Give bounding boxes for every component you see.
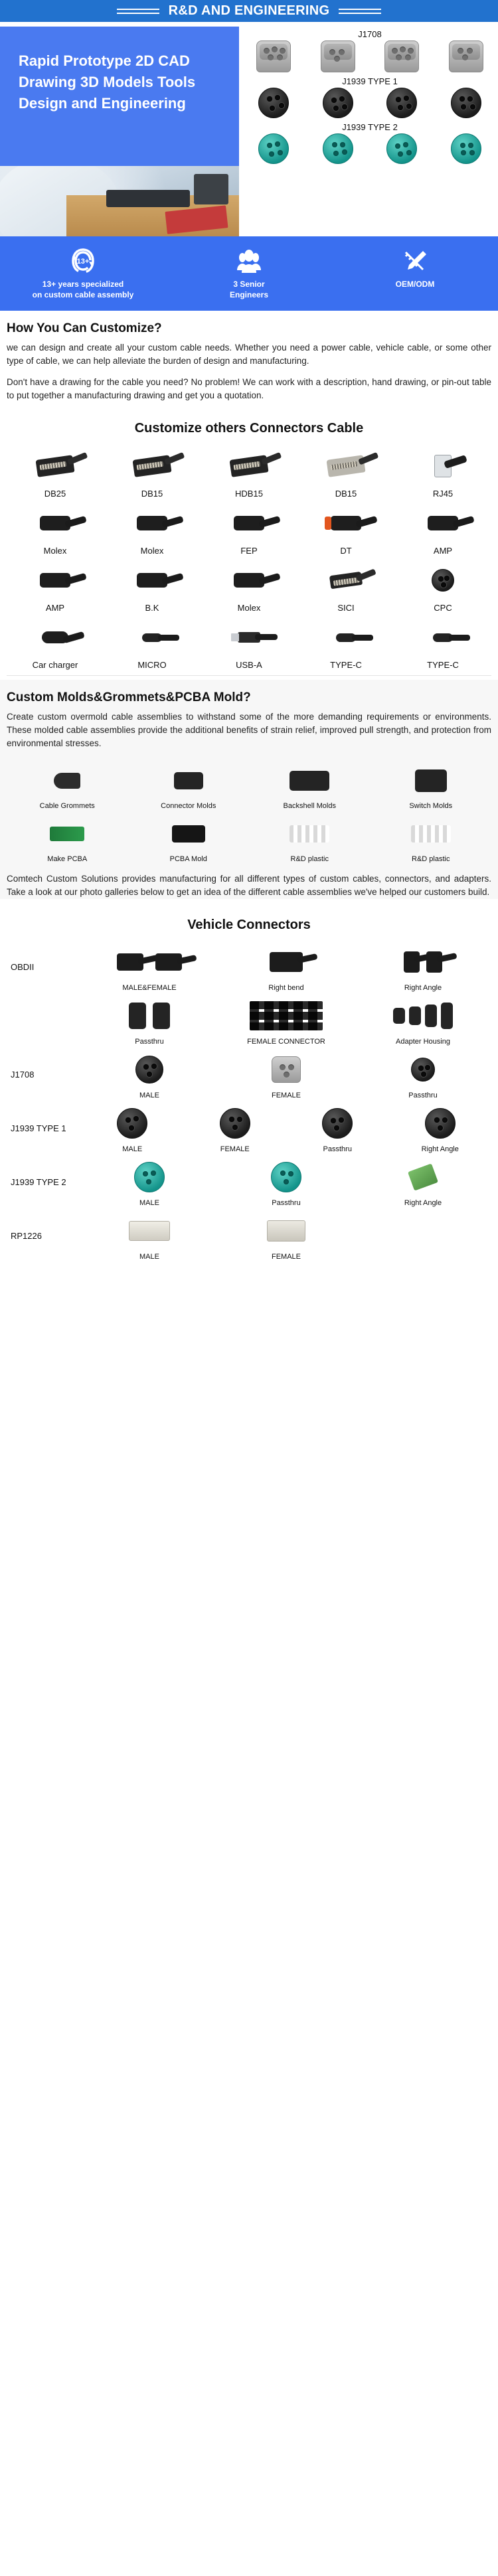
- customize-paragraph-2: Don't have a drawing for the cable you n…: [7, 376, 491, 402]
- stat-oem-odm: OEM/ODM: [332, 246, 498, 300]
- vehicle-connectors-section: Vehicle Connectors OBDII MALE&FEMALE Rig…: [0, 907, 498, 1262]
- micro-usb-icon: [105, 618, 199, 657]
- connector-cell[interactable]: DB15: [104, 443, 201, 500]
- dsub-connector-icon: [105, 447, 199, 485]
- vehicle-row-items: MALE Passthru Right Angle: [81, 1157, 491, 1207]
- molex-connector-icon: [8, 504, 102, 542]
- mold-cell[interactable]: Switch Molds: [371, 758, 492, 811]
- vehicle-item-caption: MALE: [81, 1143, 184, 1153]
- connector-cell[interactable]: RJ45: [394, 443, 491, 500]
- engineers-group-icon: [166, 246, 332, 276]
- vehicle-item-caption: MALE: [81, 1251, 218, 1261]
- rd-engineering-banner: R&D AND ENGINEERING: [0, 0, 498, 22]
- connector-label: Molex: [202, 600, 296, 613]
- gray-round-connector-icon: [384, 40, 419, 72]
- hero-right-column: J1708 J1939 TYPE 1 J1939 TYPE: [239, 27, 498, 236]
- vehicle-item-caption: FEMALE: [218, 1251, 355, 1261]
- vehicle-item[interactable]: Passthru: [218, 1157, 355, 1207]
- section-divider: [7, 675, 491, 676]
- hero-group-row: [242, 88, 498, 118]
- connector-cell[interactable]: AMP: [7, 557, 104, 614]
- dsub-connector-icon: [8, 447, 102, 485]
- obd-right-angle-icon: [355, 942, 491, 982]
- vehicle-item[interactable]: MALE: [81, 1211, 218, 1261]
- hero-group-title: J1939 TYPE 2: [242, 120, 498, 133]
- vehicle-item-caption: Passthru: [355, 1089, 491, 1099]
- molds-paragraph: Create custom overmold cable assemblies …: [7, 710, 491, 750]
- vehicle-item-caption: Right Angle: [355, 1197, 491, 1207]
- section-heading-customize: How You Can Customize?: [7, 311, 491, 341]
- black-round-connector-icon: [286, 1103, 389, 1143]
- banner-rule-left-icon: [117, 9, 159, 14]
- hero-group-j1939-type1: J1939 TYPE 1: [242, 74, 498, 118]
- connector-cell[interactable]: Car charger: [7, 614, 104, 671]
- vehicle-item-caption: FEMALE: [218, 1089, 355, 1099]
- vehicle-item[interactable]: Passthru: [81, 996, 218, 1046]
- connector-cell[interactable]: Molex: [201, 557, 297, 614]
- dsub-gray-connector-icon: [299, 447, 393, 485]
- gray-round-connector-icon: [256, 40, 291, 72]
- connector-cell[interactable]: SICI: [297, 557, 394, 614]
- j1708-female-icon: [218, 1050, 355, 1089]
- molds-grid: Cable Grommets Connector Molds Backshell…: [7, 758, 491, 864]
- amp-connector-icon: [8, 561, 102, 600]
- connector-label: CPC: [396, 600, 490, 613]
- vehicle-item-caption: Passthru: [286, 1143, 389, 1153]
- usb-a-icon: [202, 618, 296, 657]
- connector-label: SICI: [299, 600, 393, 613]
- vehicle-item[interactable]: FEMALE: [218, 1211, 355, 1261]
- rp1226-female-icon: [218, 1211, 355, 1251]
- teal-round-connector-icon: [218, 1157, 355, 1197]
- hero-left-column: Rapid Prototype 2D CAD Drawing 3D Models…: [0, 27, 239, 236]
- molex-connector-icon: [202, 561, 296, 600]
- vehicle-row-items: Passthru FEMALE CONNECTOR Adapter Housin…: [81, 996, 491, 1046]
- vehicle-item-caption: Adapter Housing: [355, 1036, 491, 1046]
- vehicle-item-spacer: [355, 1211, 491, 1261]
- connector-cell[interactable]: DB25: [7, 443, 104, 500]
- mold-label: Cable Grommets: [8, 799, 127, 810]
- obd-passthru-icon: [81, 996, 218, 1036]
- mold-label: Backshell Molds: [250, 799, 369, 810]
- stat-label: 13+ years specialized on custom cable as…: [0, 279, 166, 300]
- rd-plastic-parts-icon: [372, 815, 491, 852]
- vehicle-row-rp1226: RP1226 MALE FEMALE: [7, 1208, 491, 1262]
- j1708-passthru-icon: [355, 1050, 491, 1089]
- connector-grid: DB25 DB15 HDB15 DB15 RJ45 Molex Molex FE…: [7, 443, 491, 671]
- mold-label: Connector Molds: [129, 799, 248, 810]
- vehicle-item[interactable]: Right Angle: [355, 942, 491, 992]
- connector-cell[interactable]: TYPE-C: [297, 614, 394, 671]
- vehicle-row-label: RP1226: [7, 1231, 81, 1241]
- teal-round-connector-icon: [81, 1157, 218, 1197]
- vehicle-row-items: MALE FEMALE Passthru: [81, 1050, 491, 1099]
- connector-cell[interactable]: Molex: [104, 500, 201, 557]
- vehicle-row-items: MALE&FEMALE Right bend Right Angle: [81, 942, 491, 992]
- stat-years-specialized: 13+ 13+ years specialized on custom cabl…: [0, 246, 166, 300]
- section-title-vehicle-connectors: Vehicle Connectors: [7, 907, 491, 939]
- mold-cell[interactable]: R&D plastic: [249, 811, 371, 864]
- vehicle-item-caption: MALE&FEMALE: [81, 982, 218, 992]
- vehicle-row-j1939-type1: J1939 TYPE 1 MALE FEMALE Passthru Right …: [7, 1101, 491, 1155]
- mold-cell[interactable]: PCBA Mold: [128, 811, 250, 864]
- connector-label: FEP: [202, 542, 296, 556]
- stat-label: OEM/ODM: [332, 279, 498, 289]
- vehicle-item-caption: MALE: [81, 1197, 218, 1207]
- hero-group-row: [242, 40, 498, 72]
- vehicle-item[interactable]: Passthru: [286, 1103, 389, 1153]
- connector-label: Car charger: [8, 657, 102, 670]
- vehicle-item-caption: Right Angle: [389, 1143, 492, 1153]
- rd-plastic-parts-icon: [250, 815, 369, 852]
- connector-label: DB15: [299, 485, 393, 499]
- obd-right-bend-icon: [218, 942, 355, 982]
- connector-label: HDB15: [202, 485, 296, 499]
- mold-cell[interactable]: Connector Molds: [128, 758, 250, 811]
- recycle-13plus-icon: 13+: [0, 246, 166, 276]
- section-title-other-connectors: Customize others Connectors Cable: [7, 410, 491, 443]
- svg-text:13+: 13+: [77, 258, 90, 266]
- vehicle-item-caption: MALE: [81, 1089, 218, 1099]
- vehicle-item-caption: Right bend: [218, 982, 355, 992]
- car-charger-icon: [8, 618, 102, 657]
- obd-male-female-icon: [81, 942, 218, 982]
- connector-label: B.K: [105, 600, 199, 613]
- mold-label: Switch Molds: [372, 799, 491, 810]
- j1708-male-icon: [81, 1050, 218, 1089]
- black-round-connector-icon: [386, 88, 417, 118]
- vehicle-item[interactable]: MALE: [81, 1050, 218, 1099]
- keyboard: [106, 190, 190, 207]
- how-you-can-customize-section: How You Can Customize? we can design and…: [0, 311, 498, 402]
- vehicle-item-caption: FEMALE CONNECTOR: [218, 1036, 355, 1046]
- hero-group-j1939-type2: J1939 TYPE 2: [242, 120, 498, 164]
- teal-round-connector-icon: [258, 133, 289, 164]
- connector-label: Molex: [105, 542, 199, 556]
- vehicle-item[interactable]: Right Angle: [389, 1103, 492, 1153]
- fep-connector-icon: [202, 504, 296, 542]
- dsub-connector-icon: [202, 447, 296, 485]
- hero-headline: Rapid Prototype 2D CAD Drawing 3D Models…: [19, 50, 222, 114]
- hero-group-row: [242, 133, 498, 164]
- vehicle-item[interactable]: Right bend: [218, 942, 355, 992]
- vehicle-item-caption: FEMALE: [184, 1143, 287, 1153]
- female-connector-array-icon: [218, 996, 355, 1036]
- hero-section: Rapid Prototype 2D CAD Drawing 3D Models…: [0, 22, 498, 236]
- pencil-ruler-icon: [332, 246, 498, 276]
- hero-group-title: J1939 TYPE 1: [242, 74, 498, 88]
- mold-label: R&D plastic: [372, 852, 491, 863]
- adapter-housing-icon: [355, 996, 491, 1036]
- connector-label: TYPE-C: [299, 657, 393, 670]
- teal-round-connector-icon: [323, 133, 353, 164]
- connector-label: MICRO: [105, 657, 199, 670]
- sici-connector-icon: [299, 561, 393, 600]
- switch-mold-icon: [372, 762, 491, 799]
- stat-label: 3 Senior Engineers: [166, 279, 332, 300]
- connector-label: RJ45: [396, 485, 490, 499]
- vehicle-row-label: J1708: [7, 1070, 81, 1080]
- vehicle-row-items: MALE FEMALE: [81, 1211, 491, 1261]
- mold-cell[interactable]: R&D plastic: [371, 811, 492, 864]
- vehicle-item-caption: Right Angle: [355, 982, 491, 992]
- cable-grommet-icon: [8, 762, 127, 799]
- connector-label: DT: [299, 542, 393, 556]
- black-round-connector-icon: [81, 1103, 184, 1143]
- vehicle-item-caption: Passthru: [218, 1197, 355, 1207]
- stat-senior-engineers: 3 Senior Engineers: [166, 246, 332, 300]
- connector-cell[interactable]: B.K: [104, 557, 201, 614]
- vehicle-row-obdii: OBDII MALE&FEMALE Right bend Right Angle: [7, 939, 491, 993]
- vehicle-row-items: MALE FEMALE Passthru Right Angle: [81, 1103, 491, 1153]
- connector-cell[interactable]: CPC: [394, 557, 491, 614]
- vehicle-item[interactable]: MALE&FEMALE: [81, 942, 218, 992]
- mold-label: R&D plastic: [250, 852, 369, 863]
- monitor: [194, 174, 228, 204]
- custom-molds-section: Custom Molds&Grommets&PCBA Mold? Create …: [0, 680, 498, 899]
- type-c-icon: [299, 618, 393, 657]
- connector-cell[interactable]: MICRO: [104, 614, 201, 671]
- vehicle-item[interactable]: FEMALE: [218, 1050, 355, 1099]
- vehicle-item[interactable]: MALE: [81, 1157, 218, 1207]
- type-c-icon: [396, 618, 490, 657]
- vehicle-row-obdii-extra: Passthru FEMALE CONNECTOR Adapter Housin…: [7, 993, 491, 1047]
- vehicle-item[interactable]: Passthru: [355, 1050, 491, 1099]
- hero-group-title: J1708: [242, 27, 498, 40]
- engineer-workstation-photo: [0, 166, 239, 236]
- dt-connector-icon: [299, 504, 393, 542]
- mold-cell[interactable]: Cable Grommets: [7, 758, 128, 811]
- connector-label: DB25: [8, 485, 102, 499]
- black-round-connector-icon: [258, 88, 289, 118]
- mold-label: PCBA Mold: [129, 852, 248, 863]
- banner-title: R&D AND ENGINEERING: [169, 3, 330, 19]
- vehicle-item[interactable]: FEMALE: [184, 1103, 287, 1153]
- hero-group-j1708: J1708: [242, 27, 498, 72]
- connector-label: AMP: [396, 542, 490, 556]
- vehicle-item[interactable]: Adapter Housing: [355, 996, 491, 1046]
- amp-connector-icon: [396, 504, 490, 542]
- vehicle-row-j1708: J1708 MALE FEMALE Passthru: [7, 1047, 491, 1101]
- connector-label: Molex: [8, 542, 102, 556]
- green-angle-connector-icon: [355, 1157, 491, 1197]
- molds-closing-paragraph: Comtech Custom Solutions provides manufa…: [7, 864, 491, 899]
- gray-flange-connector-icon: [449, 40, 483, 72]
- customize-paragraph-1: we can design and create all your custom…: [7, 341, 491, 368]
- gray-flange-connector-icon: [321, 40, 355, 72]
- hero-headline-box: Rapid Prototype 2D CAD Drawing 3D Models…: [0, 27, 239, 166]
- teal-round-connector-icon: [451, 133, 481, 164]
- rp1226-male-icon: [81, 1211, 218, 1251]
- connector-label: AMP: [8, 600, 102, 613]
- mold-cell[interactable]: Backshell Molds: [249, 758, 371, 811]
- make-pcba-icon: [8, 815, 127, 852]
- other-connectors-section: Customize others Connectors Cable DB25 D…: [0, 410, 498, 671]
- molex-connector-icon: [105, 504, 199, 542]
- connector-label: DB15: [105, 485, 199, 499]
- rj45-connector-icon: [396, 447, 490, 485]
- connector-cell[interactable]: AMP: [394, 500, 491, 557]
- black-round-connector-icon: [323, 88, 353, 118]
- vehicle-row-label: OBDII: [7, 962, 81, 972]
- company-stats-strip: 13+ 13+ years specialized on custom cabl…: [0, 236, 498, 311]
- mold-cell[interactable]: Make PCBA: [7, 811, 128, 864]
- connector-label: USB-A: [202, 657, 296, 670]
- section-heading-molds: Custom Molds&Grommets&PCBA Mold?: [7, 680, 491, 710]
- product-description-page: R&D AND ENGINEERING Rapid Prototype 2D C…: [0, 0, 498, 1262]
- connector-cell[interactable]: FEP: [201, 500, 297, 557]
- black-round-connector-icon: [389, 1103, 492, 1143]
- vehicle-row-label: J1939 TYPE 2: [7, 1177, 81, 1187]
- mold-label: Make PCBA: [8, 852, 127, 863]
- teal-round-connector-icon: [386, 133, 417, 164]
- vehicle-row-label: J1939 TYPE 1: [7, 1123, 81, 1133]
- banner-rule-right-icon: [339, 9, 381, 14]
- pcba-mold-icon: [129, 815, 248, 852]
- black-round-connector-icon: [451, 88, 481, 118]
- connector-cell[interactable]: HDB15: [201, 443, 297, 500]
- vehicle-item[interactable]: Right Angle: [355, 1157, 491, 1207]
- vehicle-item[interactable]: MALE: [81, 1103, 184, 1153]
- black-round-connector-icon: [184, 1103, 287, 1143]
- vehicle-item[interactable]: FEMALE CONNECTOR: [218, 996, 355, 1046]
- connector-cell[interactable]: Molex: [7, 500, 104, 557]
- connector-cell[interactable]: TYPE-C: [394, 614, 491, 671]
- vehicle-row-j1939-type2: J1939 TYPE 2 MALE Passthru Right Angle: [7, 1155, 491, 1208]
- connector-cell[interactable]: DT: [297, 500, 394, 557]
- connector-cell[interactable]: USB-A: [201, 614, 297, 671]
- backshell-mold-icon: [250, 762, 369, 799]
- connector-cell[interactable]: DB15: [297, 443, 394, 500]
- bk-connector-icon: [105, 561, 199, 600]
- connector-mold-icon: [129, 762, 248, 799]
- vehicle-item-caption: Passthru: [81, 1036, 218, 1046]
- connector-label: TYPE-C: [396, 657, 490, 670]
- cpc-connector-icon: [396, 561, 490, 600]
